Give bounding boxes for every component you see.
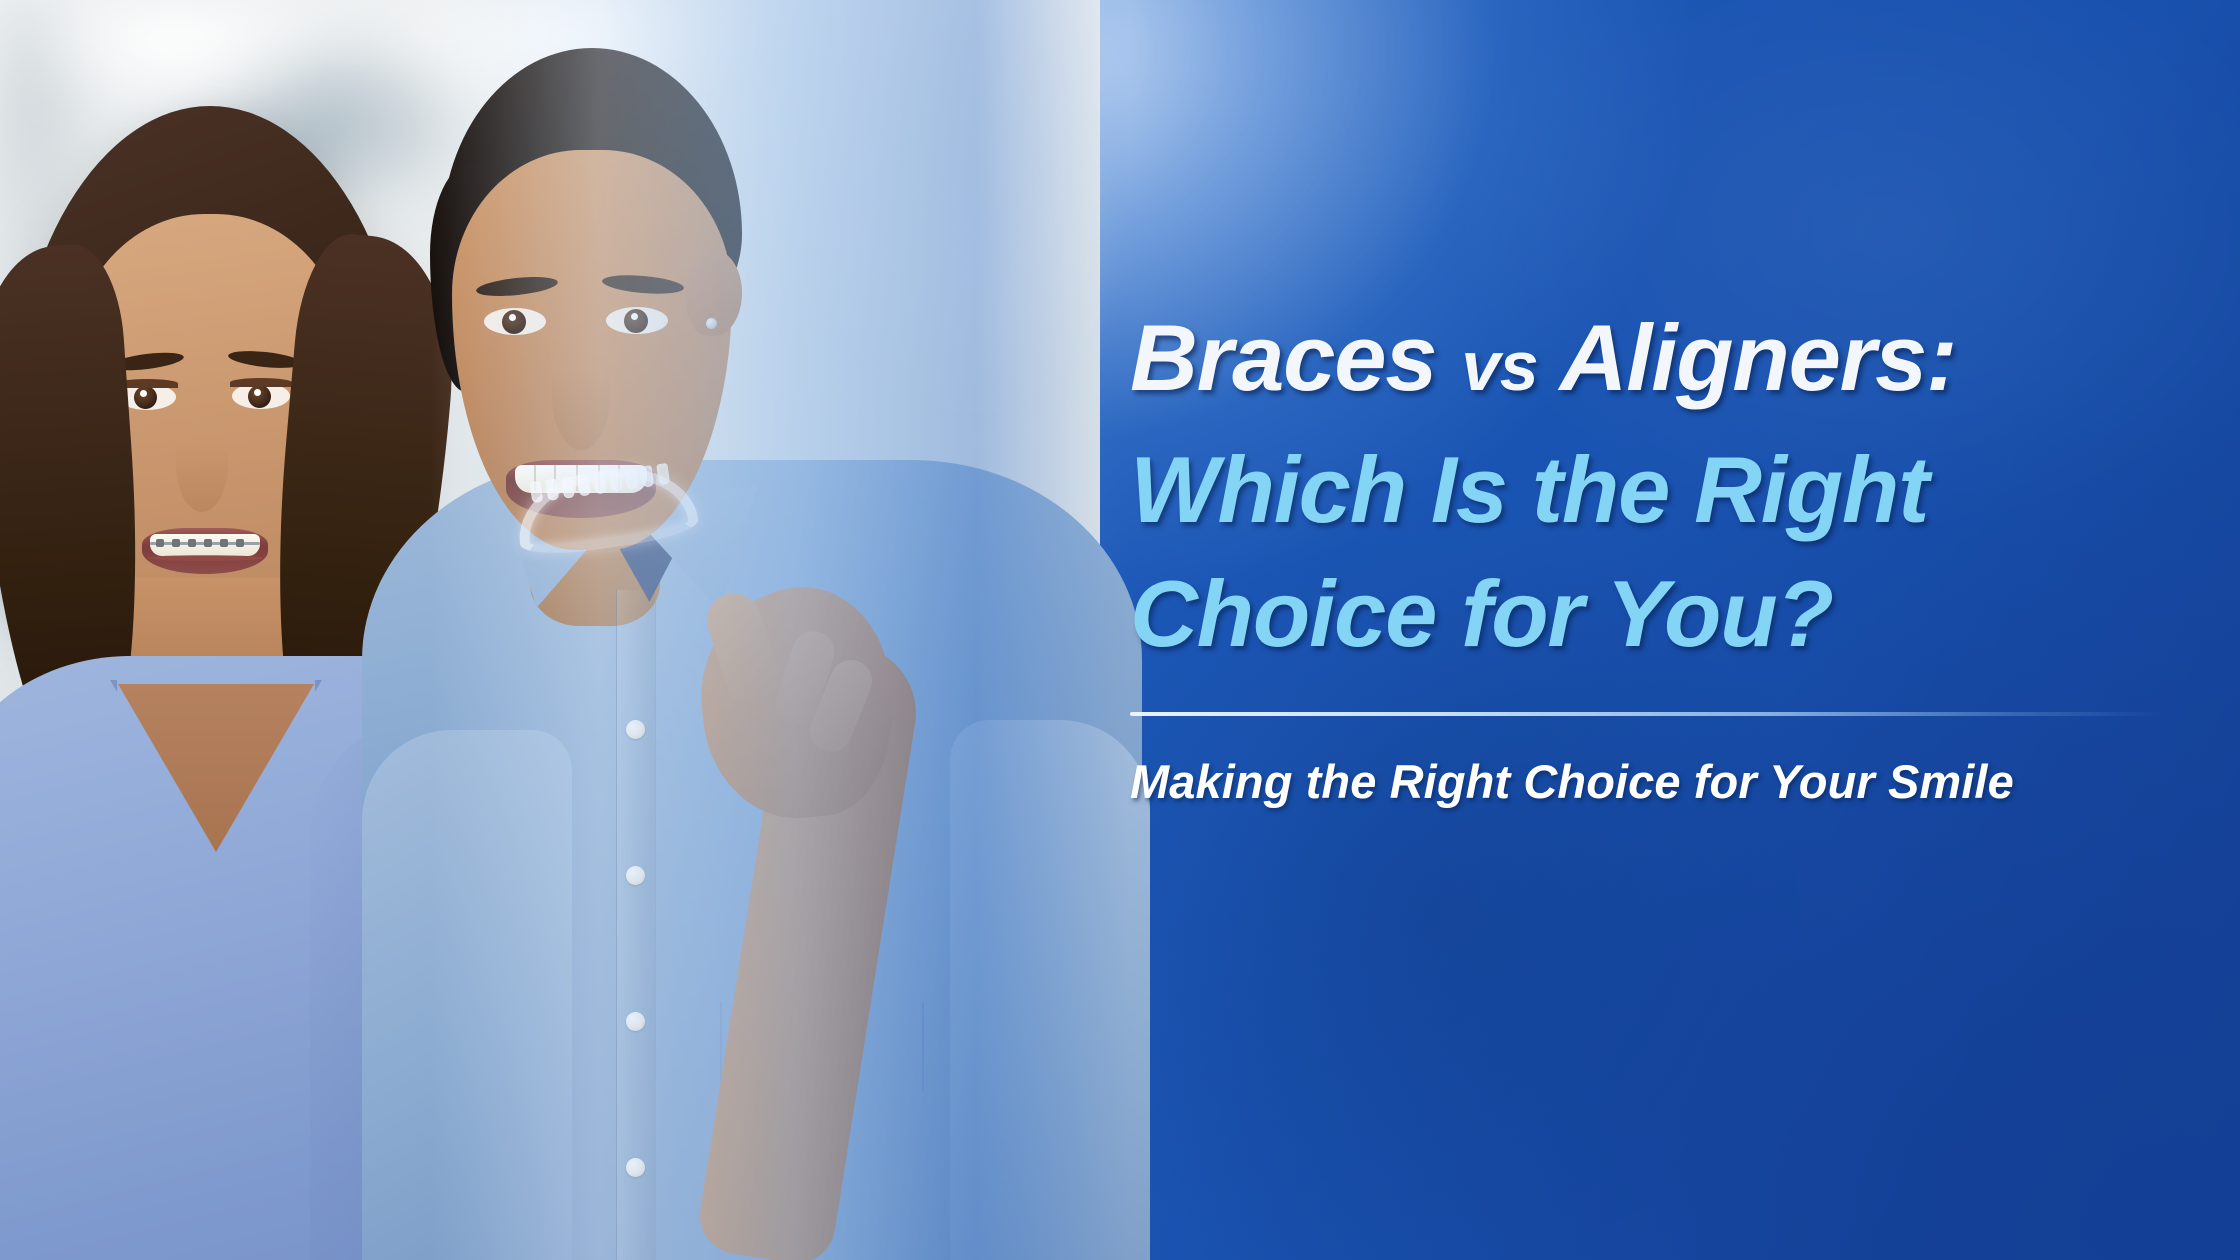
braces-bracket [172,539,180,547]
braces-bracket [220,539,228,547]
headline-word-braces: Braces [1130,305,1436,410]
aligner-tooth [640,465,654,487]
braces-bracket [188,539,196,547]
man-shirt-button [626,720,645,739]
headline-line-1: Braces vs Aligners: [1130,296,2190,428]
man-sleeve-right [950,720,1150,1260]
woman-iris-left [134,386,157,409]
aligner-tooth [656,463,670,485]
person-man-with-aligner [390,30,1110,1260]
braces-bracket [236,539,244,547]
headline-divider [1130,712,2162,716]
woman-lower-lip [148,555,262,561]
banner-root: Braces vs Aligners: Which Is the Right C… [0,0,2240,1260]
headline-block: Braces vs Aligners: Which Is the Right C… [1130,296,2190,809]
man-nose [552,342,610,450]
hero-photo [0,0,1100,1260]
headline-line-3: Choice for You? [1130,552,2190,676]
headline-word-vs: vs [1461,327,1538,405]
man-eye-glint-left [509,314,516,321]
man-eye-glint-right [631,313,638,320]
woman-iris-right [248,385,271,408]
man-shirt-button [626,1158,645,1177]
woman-eye-glint-right [254,389,261,396]
woman-nose [176,416,228,512]
woman-eyelid-right [230,378,292,387]
braces-bracket [156,539,164,547]
braces-bracket [204,539,212,547]
man-eye-left [484,308,546,335]
man-shirt-button [626,866,645,885]
man-eye-right [606,307,668,334]
headline-word-aligners: Aligners: [1560,305,1957,410]
woman-eye-glint-left [140,390,147,397]
headline-line-2: Which Is the Right [1130,428,2190,552]
subtitle: Making the Right Choice for Your Smile [1130,754,2190,809]
woman-mouth-with-braces [142,528,268,574]
man-ear-stud [706,318,717,329]
man-sleeve-left [362,730,572,1260]
aligner-tooth [530,481,544,503]
man-shirt-button [626,1012,645,1031]
